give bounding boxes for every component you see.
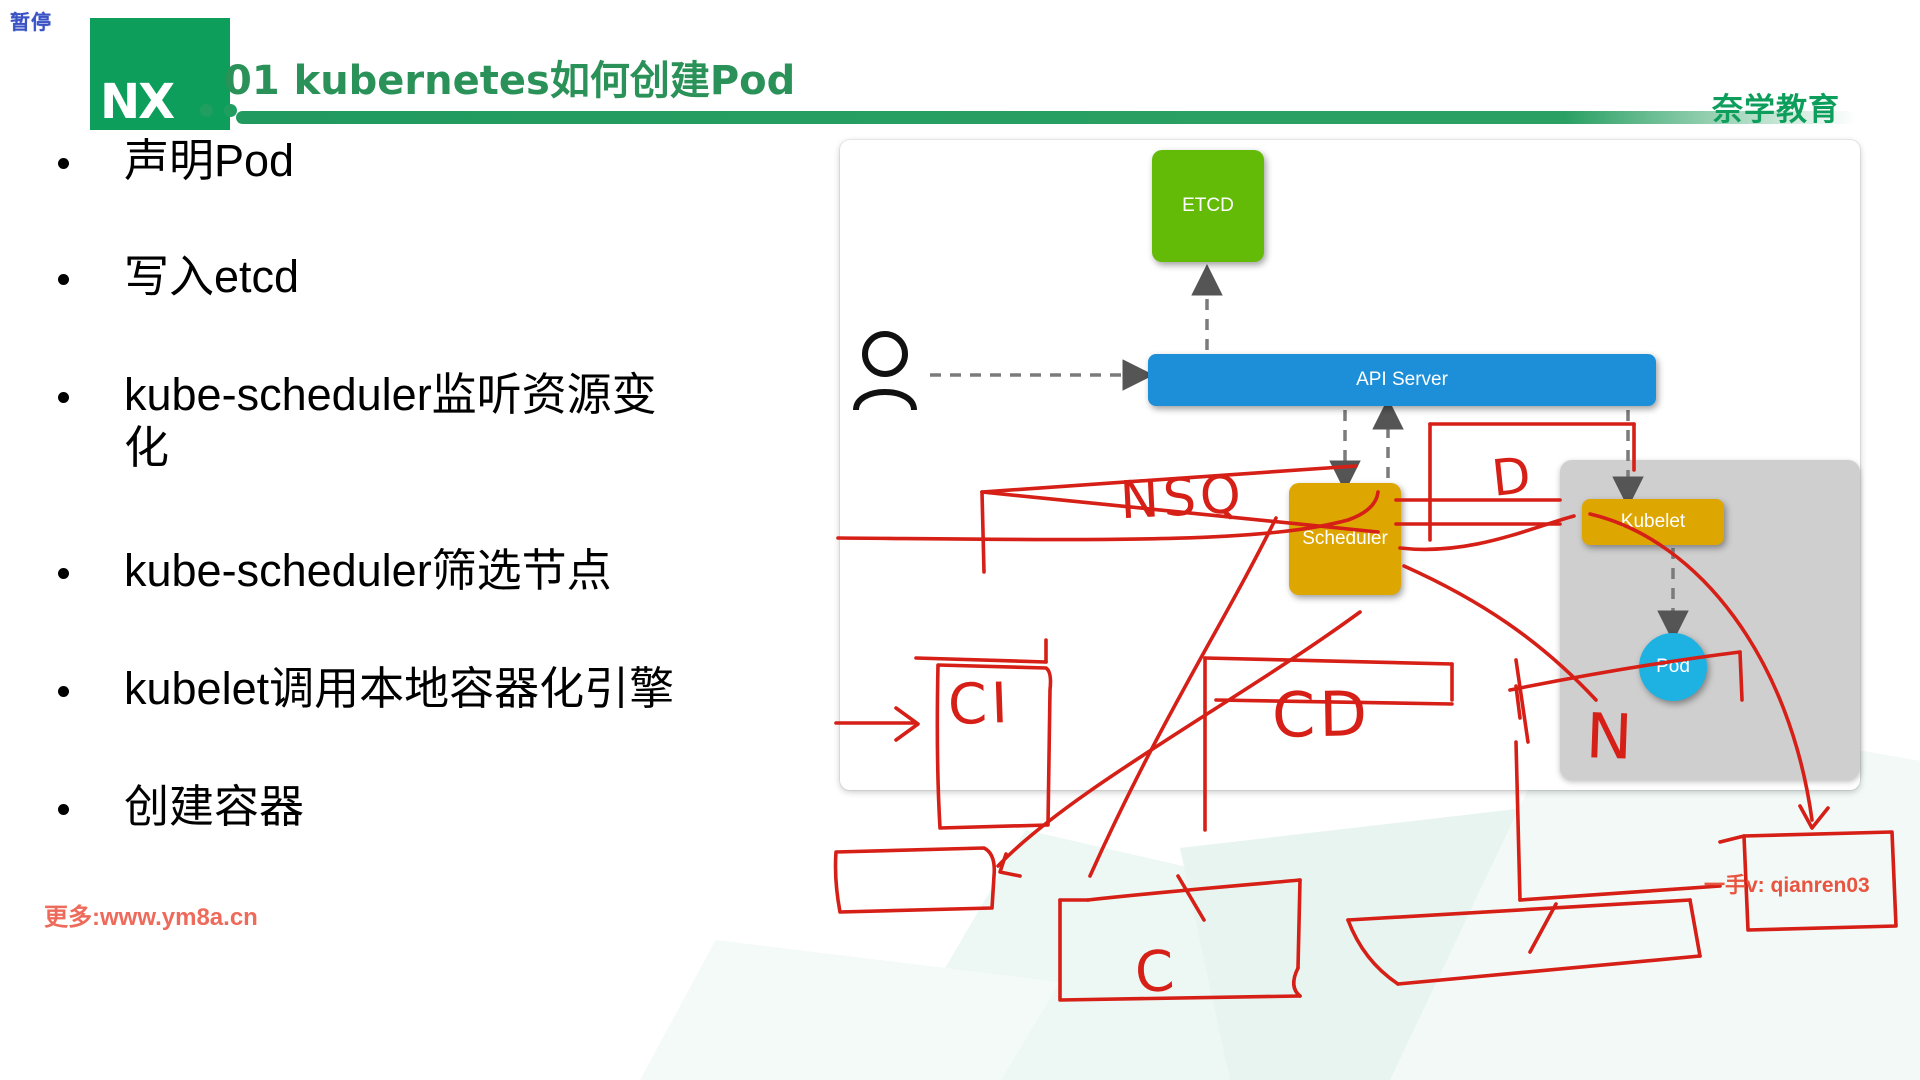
slide-canvas: 暂停 NX 01 kubernetes如何创建Pod 奈学教育 声明Pod 写入… — [0, 0, 1920, 1080]
nx-logo: NX — [100, 78, 173, 126]
list-item: 声明Pod — [44, 134, 294, 187]
pause-badge: 暂停 — [10, 6, 52, 35]
watermark-text: 一手v: qianren03 — [1704, 869, 1870, 899]
diagram-node-scheduler: Scheduler — [1289, 483, 1401, 595]
decor-shape-1 — [880, 830, 1440, 1080]
diagram-node-etcd: ETCD — [1152, 150, 1264, 262]
list-item: kube-scheduler监听资源变 化 — [44, 368, 657, 474]
decor-shape-2 — [1180, 790, 1680, 1080]
list-item: 写入etcd — [44, 250, 299, 303]
diagram-node-kubelet: Kubelet — [1582, 499, 1724, 545]
list-item: kubelet调用本地容器化引擎 — [44, 662, 674, 715]
title-underline-rule — [236, 111, 1856, 124]
page-title: 01 kubernetes如何创建Pod — [224, 48, 795, 106]
brand-logo: 奈学教育 — [1712, 84, 1840, 129]
list-item: kube-scheduler筛选节点 — [44, 544, 612, 597]
annotation-c: C — [1133, 939, 1177, 1007]
diagram-node-api-server: API Server — [1148, 354, 1656, 406]
logo-dot — [200, 104, 213, 117]
list-item: 创建容器 — [44, 780, 304, 833]
diagram-node-pod: Pod — [1639, 633, 1707, 701]
person-icon — [850, 330, 920, 410]
decor-shape-4 — [640, 940, 1060, 1080]
more-info-link[interactable]: 更多:www.ym8a.cn — [44, 897, 258, 932]
